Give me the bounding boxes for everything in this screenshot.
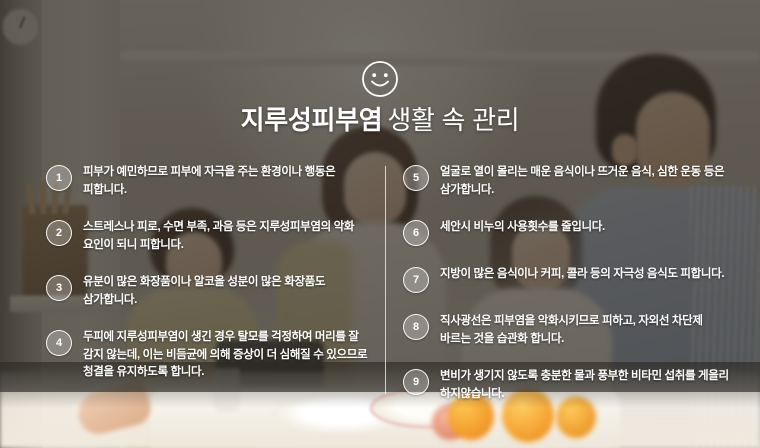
- list-item: 5 얼굴로 열이 몰리는 매운 음식이나 뜨거운 음식, 심한 운동 등은 삼가…: [403, 164, 733, 199]
- item-text: 지방이 많은 음식이나 커피, 콜라 등의 자극성 음식도 피합니다.: [440, 266, 724, 284]
- poster-content: 지루성피부염생활 속 관리 1 피부가 예민하므로 피부에 자극을 주는 환경이…: [0, 0, 760, 448]
- list-item: 1 피부가 예민하므로 피부에 자극을 주는 환경이나 행동은 피합니다.: [46, 164, 376, 199]
- item-number-badge: 2: [46, 220, 72, 246]
- column-divider: [385, 166, 386, 394]
- item-number-badge: 1: [46, 165, 72, 191]
- list-item: 8 직사광선은 피부염을 악화시키므로 피하고, 자외선 차단제 바르는 것을 …: [403, 313, 733, 348]
- page-title-highlight: 지루성피부염: [241, 105, 383, 135]
- smiley-face-icon: [361, 60, 399, 98]
- list-item: 7 지방이 많은 음식이나 커피, 콜라 등의 자극성 음식도 피합니다.: [403, 266, 733, 293]
- list-item: 9 변비가 생기지 않도록 충분한 물과 풍부한 비타민 섭취를 게을리 하지않…: [403, 368, 733, 403]
- item-text: 두피에 지루성피부염이 생긴 경우 탈모를 걱정하여 머리를 잘 감지 않는데,…: [83, 329, 376, 382]
- list-item: 3 유분이 많은 화장품이나 알코올 성분이 많은 화장품도 삼가합니다.: [46, 274, 376, 309]
- item-number-badge: 4: [46, 330, 72, 356]
- item-number-badge: 8: [403, 314, 429, 340]
- item-text: 얼굴로 열이 몰리는 매운 음식이나 뜨거운 음식, 심한 운동 등은 삼가합니…: [440, 164, 733, 199]
- poster-root: 지루성피부염생활 속 관리 1 피부가 예민하므로 피부에 자극을 주는 환경이…: [0, 0, 760, 448]
- item-number-badge: 3: [46, 275, 72, 301]
- item-number-badge: 5: [403, 165, 429, 191]
- tips-column-right: 5 얼굴로 열이 몰리는 매운 음식이나 뜨거운 음식, 심한 운동 등은 삼가…: [403, 164, 733, 415]
- item-text: 세안시 비누의 사용횟수를 줄입니다.: [440, 219, 605, 237]
- list-item: 4 두피에 지루성피부염이 생긴 경우 탈모를 걱정하여 머리를 잘 감지 않는…: [46, 329, 376, 382]
- page-title-rest: 생활 속 관리: [387, 105, 519, 135]
- item-number-badge: 9: [403, 369, 429, 395]
- item-text: 직사광선은 피부염을 악화시키므로 피하고, 자외선 차단제 바르는 것을 습관…: [440, 313, 733, 348]
- item-text: 변비가 생기지 않도록 충분한 물과 풍부한 비타민 섭취를 게을리 하지않습니…: [440, 368, 733, 403]
- item-text: 피부가 예민하므로 피부에 자극을 주는 환경이나 행동은 피합니다.: [83, 164, 376, 199]
- list-item: 6 세안시 비누의 사용횟수를 줄입니다.: [403, 219, 733, 246]
- item-number-badge: 7: [403, 267, 429, 293]
- list-item: 2 스트레스나 피로, 수면 부족, 과음 등은 지루성피부염의 악화 요인이 …: [46, 219, 376, 254]
- item-text: 스트레스나 피로, 수면 부족, 과음 등은 지루성피부염의 악화 요인이 되니…: [83, 219, 376, 254]
- item-number-badge: 6: [403, 220, 429, 246]
- item-text: 유분이 많은 화장품이나 알코올 성분이 많은 화장품도 삼가합니다.: [83, 274, 376, 309]
- page-title: 지루성피부염생활 속 관리: [0, 104, 760, 136]
- tips-column-left: 1 피부가 예민하므로 피부에 자극을 주는 환경이나 행동은 피합니다. 2 …: [46, 164, 376, 394]
